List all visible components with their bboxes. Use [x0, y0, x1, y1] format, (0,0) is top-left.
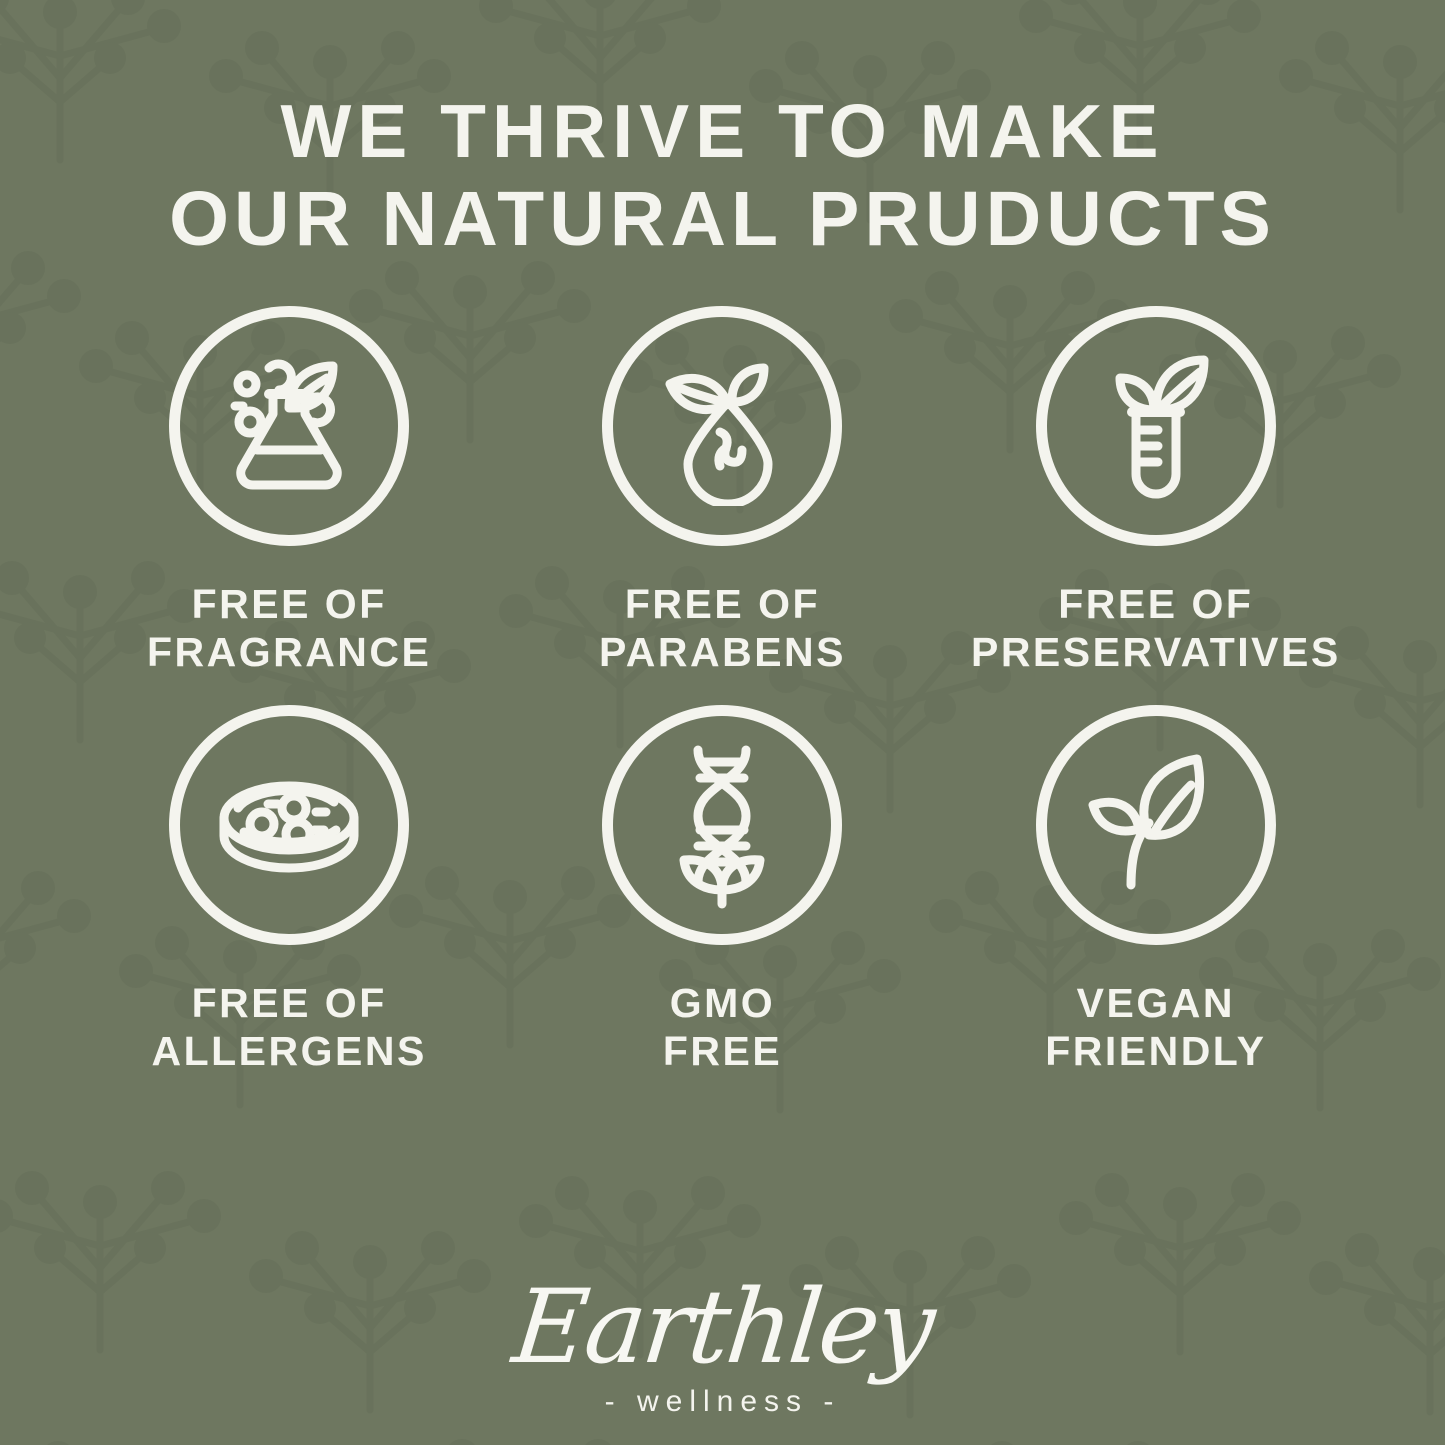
badge-label: VEGAN FRIENDLY	[1045, 980, 1266, 1076]
test-tube-leaves-icon	[1076, 346, 1236, 506]
dna-plant-icon	[642, 740, 802, 910]
leaf-sprout-icon	[1073, 743, 1238, 908]
brand-tagline: - wellness -	[0, 1385, 1445, 1419]
badge-icon-circle	[1036, 705, 1276, 945]
droplet-leaves-icon	[642, 346, 802, 506]
badge-label: FREE OF PRESERVATIVES	[971, 581, 1341, 677]
badge-label: GMO FREE	[663, 980, 782, 1076]
badge-icon-circle	[602, 705, 842, 945]
badge-icon-circle	[1036, 306, 1276, 546]
badge-icon-circle	[169, 306, 409, 546]
benefit-badge-grid: FREE OF FRAGRANCE FREE OF PARABENS	[73, 306, 1373, 1076]
badge-gmo-free: GMO FREE	[506, 705, 939, 1076]
badge-icon-circle	[169, 705, 409, 945]
page-title-line-1: WE THRIVE TO MAKE	[58, 88, 1388, 175]
flask-leaf-bubbles-icon	[209, 346, 369, 506]
badge-icon-circle	[602, 306, 842, 546]
page-title-line-2: OUR NATURAL PRUDUCTS	[58, 175, 1388, 264]
page-title: WE THRIVE TO MAKE OUR NATURAL PRUDUCTS	[58, 88, 1388, 264]
badge-free-of-allergens: FREE OF ALLERGENS	[73, 705, 506, 1076]
badge-free-of-preservatives: FREE OF PRESERVATIVES	[939, 306, 1372, 677]
brand-wordmark: Earthley	[508, 1277, 936, 1379]
badge-free-of-parabens: FREE OF PARABENS	[506, 306, 939, 677]
badge-free-of-fragrance: FREE OF FRAGRANCE	[73, 306, 506, 677]
badge-label: FREE OF FRAGRANCE	[147, 581, 431, 677]
petri-dish-icon	[204, 740, 374, 910]
brand-logo: Earthley - wellness -	[0, 1277, 1445, 1419]
badge-label: FREE OF ALLERGENS	[151, 980, 426, 1076]
badge-label: FREE OF PARABENS	[599, 581, 846, 677]
badge-vegan-friendly: VEGAN FRIENDLY	[939, 705, 1372, 1076]
